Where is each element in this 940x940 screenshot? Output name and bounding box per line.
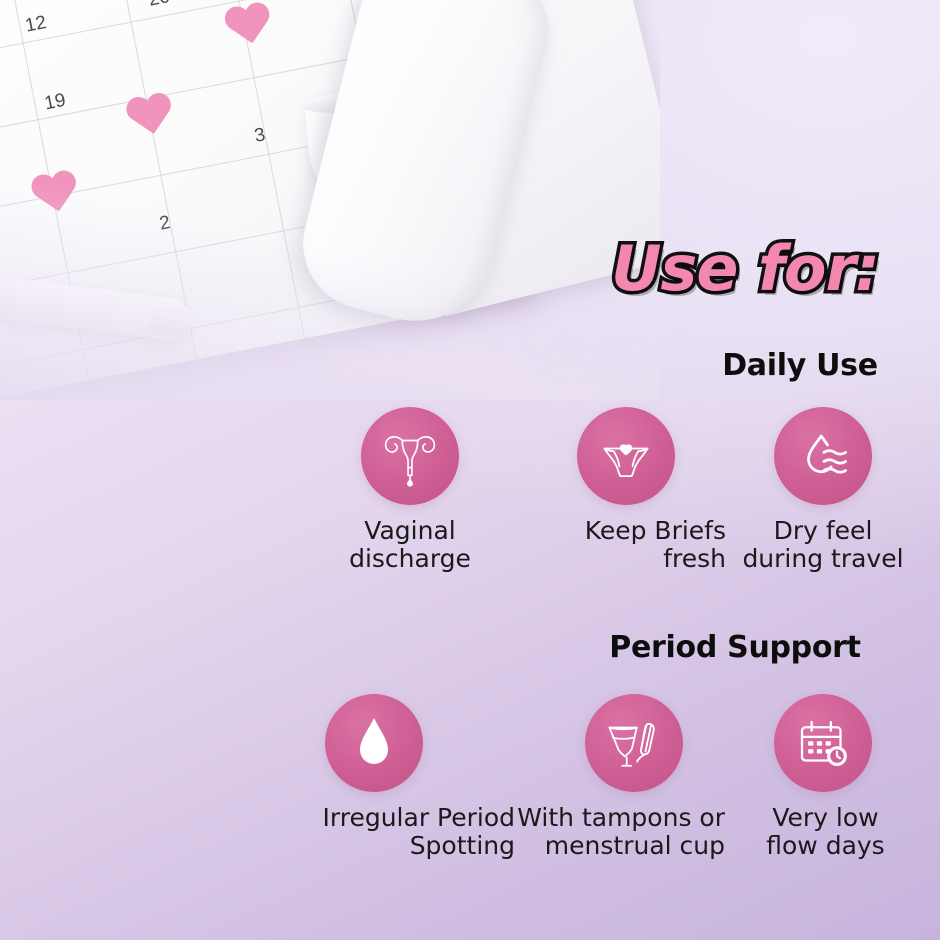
feature-label: Dry feel during travel bbox=[705, 517, 940, 573]
section-title-daily-use: Daily Use bbox=[640, 348, 940, 383]
calendar-heart-marker bbox=[222, 1, 275, 51]
droplet-icon bbox=[325, 694, 423, 792]
feature-with-tampons-or-cup: With tampons or menstrual cup bbox=[455, 694, 725, 860]
calendar-heart-marker bbox=[123, 92, 176, 142]
briefs-heart-icon bbox=[577, 407, 675, 505]
feature-label: Very low flow days bbox=[728, 804, 923, 860]
dry-droplet-waves-icon bbox=[774, 407, 872, 505]
calendar-day-number: 12 bbox=[23, 12, 48, 38]
feature-label: Keep Briefs fresh bbox=[526, 517, 726, 573]
uterus-discharge-icon bbox=[361, 407, 459, 505]
feature-vaginal-discharge: Vaginal discharge bbox=[310, 407, 510, 573]
cup-tampon-icon bbox=[585, 694, 683, 792]
calendar-heart-marker bbox=[28, 169, 81, 219]
feature-label: Vaginal discharge bbox=[310, 517, 510, 573]
product-photo-collage: 3 13 22 3 12 20 21 5 19 18 3 2 1 bbox=[0, 0, 660, 400]
feature-dry-feel-travel: Dry feel during travel bbox=[705, 407, 940, 573]
section-title-period-support: Period Support bbox=[560, 630, 910, 665]
calendar-clock-icon bbox=[774, 694, 872, 792]
poster-canvas: 3 13 22 3 12 20 21 5 19 18 3 2 1 bbox=[0, 0, 940, 940]
page-title: Use for: bbox=[575, 238, 915, 300]
feature-label: With tampons or menstrual cup bbox=[455, 804, 725, 860]
feature-very-low-flow-days: Very low flow days bbox=[728, 694, 923, 860]
calendar-day-number: 19 bbox=[43, 90, 68, 116]
feature-keep-briefs-fresh: Keep Briefs fresh bbox=[526, 407, 726, 573]
